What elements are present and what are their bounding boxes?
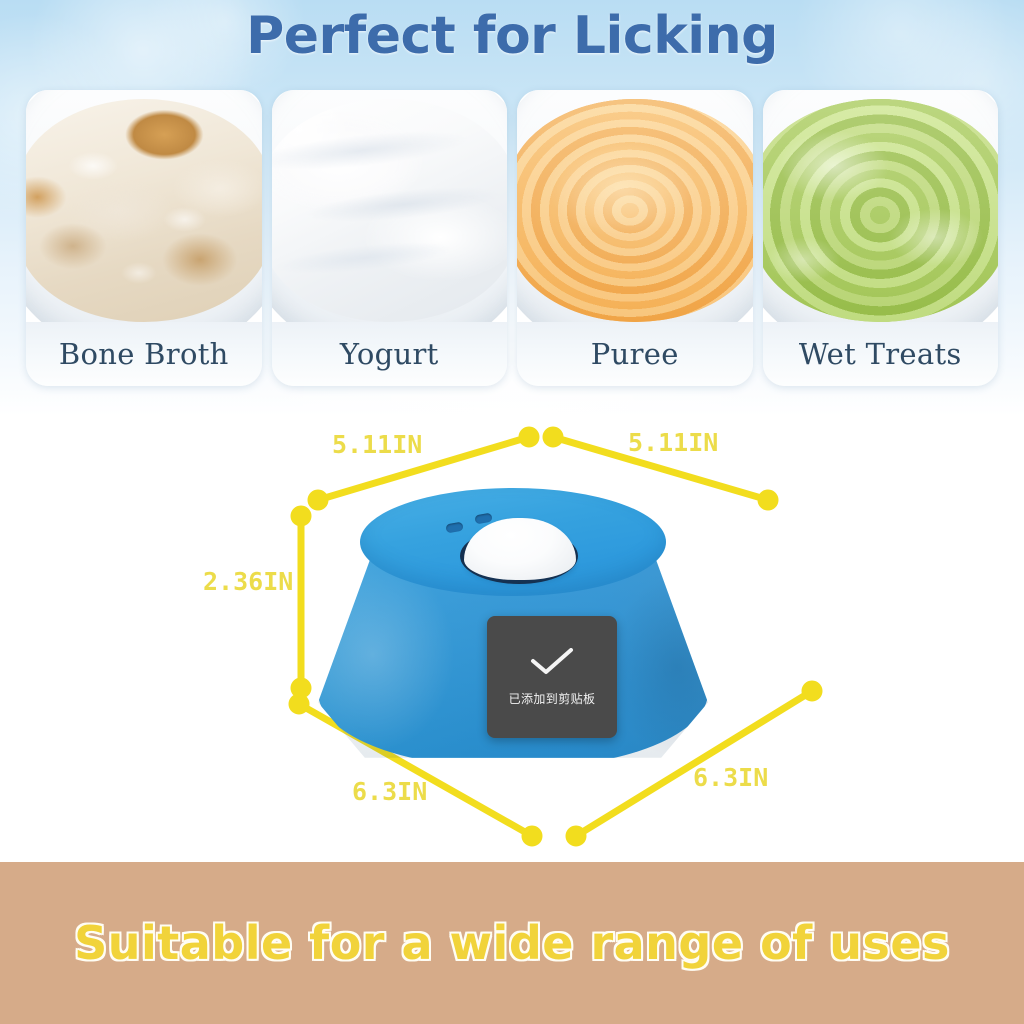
bowl-food <box>272 99 508 322</box>
food-card-yogurt[interactable]: Yogurt <box>272 90 508 386</box>
wet-treats-texture <box>763 99 999 322</box>
dimension-label-bottom-left: 6.3IN <box>352 777 427 806</box>
dimension-label-top-left: 5.11IN <box>332 430 422 459</box>
broth-texture <box>26 99 262 322</box>
food-card-label: Wet Treats <box>799 337 962 371</box>
bone-broth-photo <box>26 90 262 322</box>
food-card-label: Puree <box>591 337 679 371</box>
food-card-label: Yogurt <box>340 337 439 371</box>
food-card-puree[interactable]: Puree <box>517 90 753 386</box>
yogurt-photo <box>272 90 508 322</box>
food-card-label: Bone Broth <box>59 337 229 371</box>
check-icon <box>529 648 575 676</box>
bowl-food <box>517 99 753 322</box>
bottom-banner: Suitable for a wide range of uses <box>0 862 1024 1024</box>
bowl-food <box>26 99 262 322</box>
card-label-bar: Yogurt <box>272 322 508 386</box>
wet-treats-photo <box>763 90 999 322</box>
puree-texture <box>517 99 753 322</box>
food-card-wet-treats[interactable]: Wet Treats <box>763 90 999 386</box>
card-label-bar: Puree <box>517 322 753 386</box>
food-card-bone-broth[interactable]: Bone Broth <box>26 90 262 386</box>
dimension-label-bottom-right: 6.3IN <box>693 763 768 792</box>
food-cards-row: Bone Broth Yogurt <box>26 90 998 386</box>
banner-headline: Suitable for a wide range of uses <box>74 916 950 970</box>
bowl-food <box>763 99 999 322</box>
product-infographic-page: Perfect for Licking Bone Broth <box>0 0 1024 1024</box>
puree-photo <box>517 90 753 322</box>
clipboard-toast[interactable]: 已添加到剪贴板 <box>487 616 617 738</box>
page-title: Perfect for Licking <box>0 6 1024 66</box>
top-blue-section: Perfect for Licking Bone Broth <box>0 0 1024 416</box>
card-label-bar: Wet Treats <box>763 322 999 386</box>
dimension-label-top-right: 5.11IN <box>628 428 718 457</box>
dimension-label-height: 2.36IN <box>203 567 293 596</box>
yogurt-texture <box>272 99 508 322</box>
toast-message: 已添加到剪贴板 <box>509 690 596 707</box>
card-label-bar: Bone Broth <box>26 322 262 386</box>
